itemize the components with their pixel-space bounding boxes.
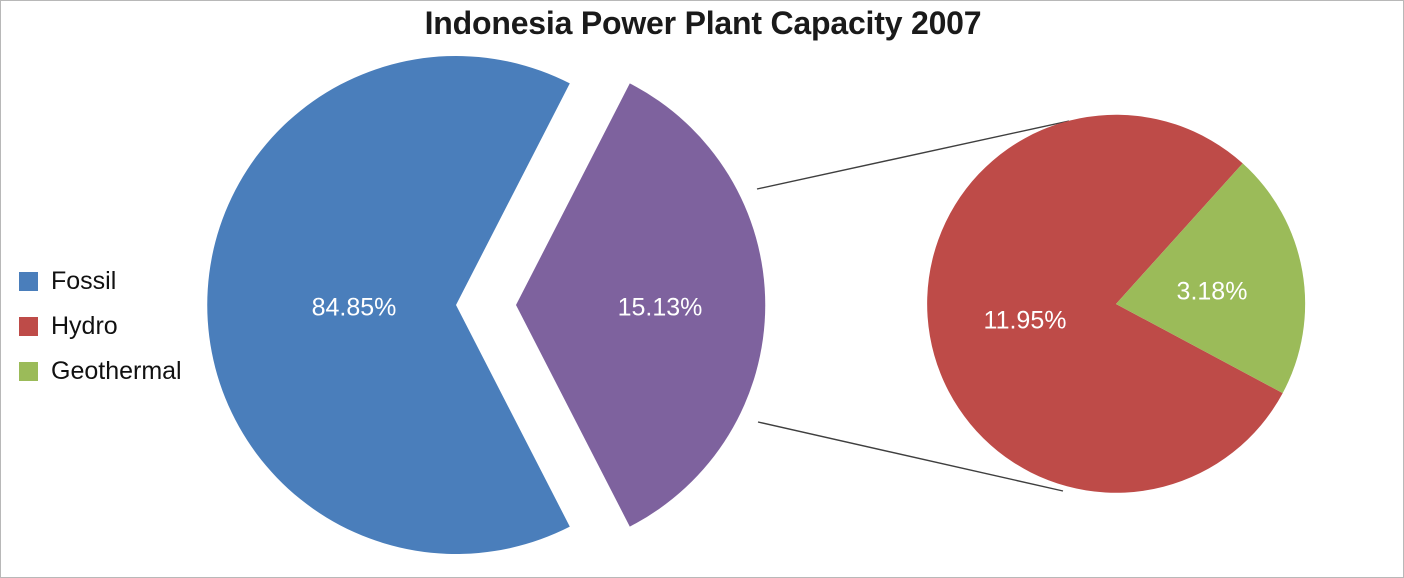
data-label-geothermal: 3.18% (1177, 278, 1248, 306)
secondary-pie (927, 115, 1305, 493)
legend-item-hydro[interactable]: Hydro (19, 304, 229, 349)
legend-label-fossil: Fossil (51, 269, 116, 294)
chart-legend: Fossil Hydro Geothermal (19, 259, 229, 394)
chart-container: Indonesia Power Plant Capacity 2007 84.8… (0, 0, 1404, 578)
legend-item-geothermal[interactable]: Geothermal (19, 349, 229, 394)
legend-swatch-fossil (19, 272, 38, 291)
legend-label-hydro: Hydro (51, 314, 118, 339)
legend-swatch-hydro (19, 317, 38, 336)
legend-swatch-geothermal (19, 362, 38, 381)
legend-item-fossil[interactable]: Fossil (19, 259, 229, 304)
legend-label-geothermal: Geothermal (51, 359, 182, 384)
data-label-hydro: 11.95% (984, 307, 1067, 335)
data-label-other-group: 15.13% (618, 294, 703, 322)
data-label-fossil: 84.85% (312, 294, 397, 322)
